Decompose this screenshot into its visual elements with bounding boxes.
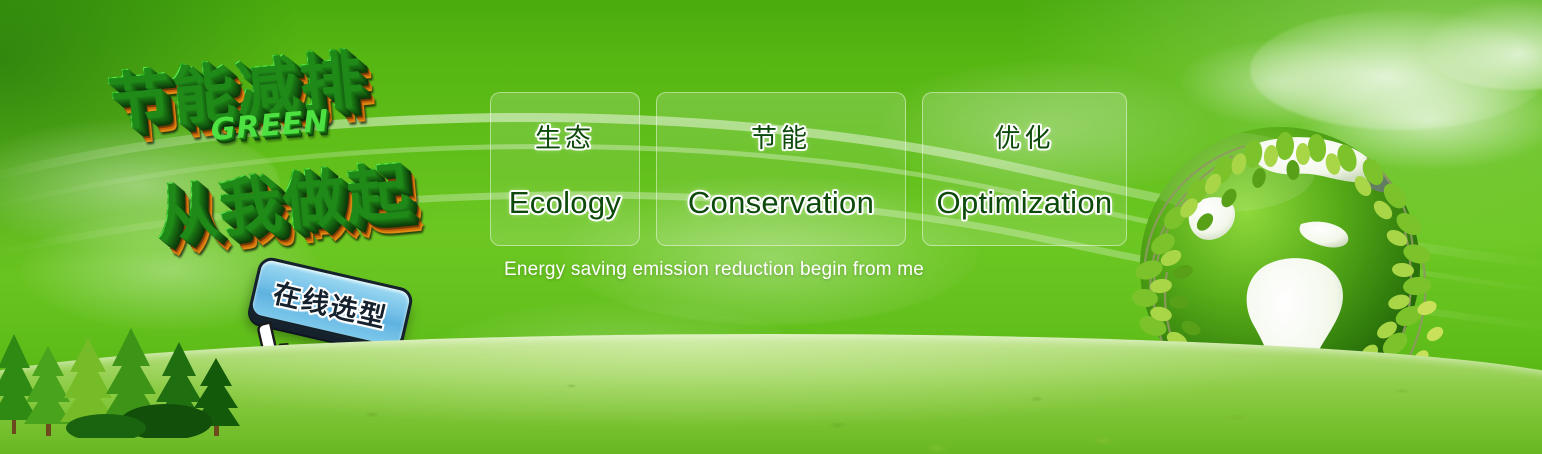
feature-label-en-ecology: Ecology	[509, 185, 621, 221]
feature-box-ecology[interactable]: 生态 Ecology	[490, 92, 640, 246]
eco-promo-banner: 节能减排 从我做起 GREEN 在线选型 生态 Ecology 节能 Conse…	[0, 0, 1542, 454]
feature-box-conservation[interactable]: 节能 Conservation	[656, 92, 906, 246]
cta-button-label: 在线选型	[270, 271, 392, 335]
feature-label-cn-conservation: 节能	[751, 118, 811, 155]
cloud-right-b	[1420, 0, 1542, 90]
feature-label-cn-optimization: 优化	[994, 118, 1054, 155]
feature-box-optimization[interactable]: 优化 Optimization	[922, 92, 1127, 246]
hero-headline: 节能减排 从我做起 GREEN	[85, 15, 507, 302]
feature-box-group: 生态 Ecology 节能 Conservation 优化 Optimizati…	[490, 92, 1127, 246]
feature-label-en-conservation: Conservation	[688, 185, 874, 221]
headline-line-2: 从我做起	[150, 131, 503, 254]
feature-label-cn-ecology: 生态	[535, 118, 595, 155]
feature-label-en-optimization: Optimization	[937, 185, 1113, 221]
banner-tagline: Energy saving emission reduction begin f…	[504, 259, 924, 281]
grass-ground	[0, 334, 1542, 454]
